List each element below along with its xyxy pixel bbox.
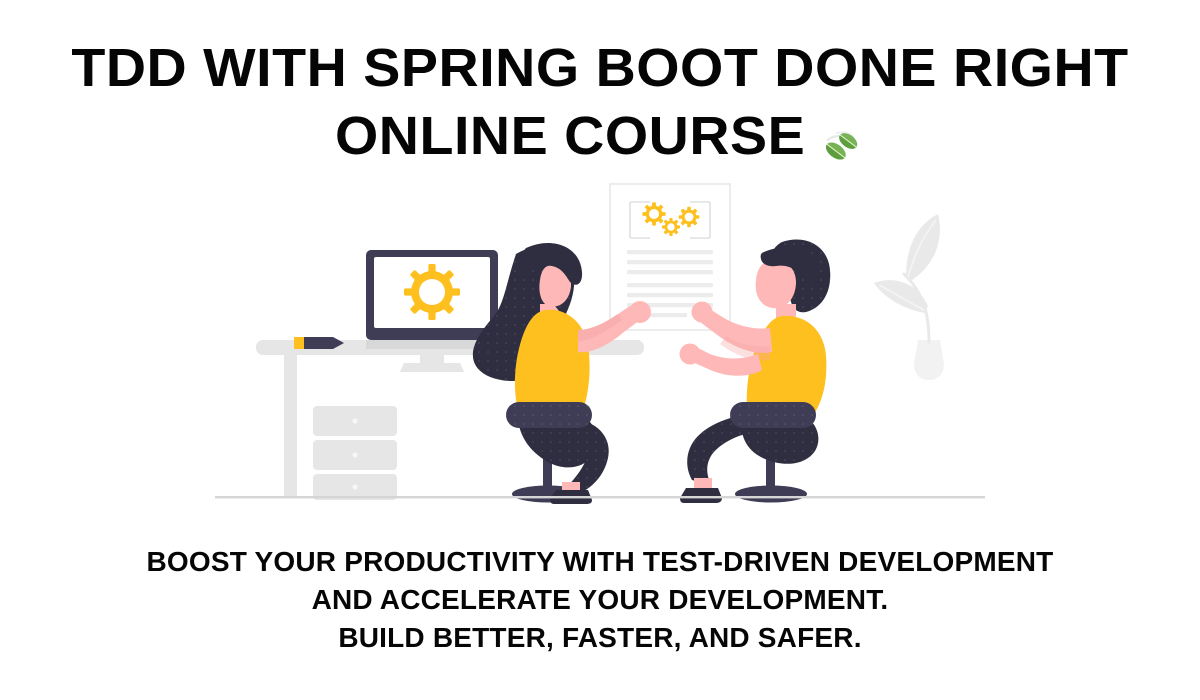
potted-plant-graphic: [874, 214, 944, 380]
subtitle-line-1: Boost your productivity with test-driven…: [0, 543, 1200, 581]
title-line-1: TDD with Spring Boot Done Right: [0, 34, 1200, 102]
stool-right-seat: [730, 402, 816, 428]
gear-icon: [404, 264, 460, 320]
poster-canvas: TDD with Spring Boot Done Right Online C…: [0, 0, 1200, 700]
ground-line: [215, 496, 985, 498]
page-title: TDD with Spring Boot Done Right Online C…: [0, 34, 1200, 170]
title-line-2-row: Online Course: [0, 102, 1200, 170]
title-line-2: Online Course: [335, 102, 805, 170]
stool-left-seat: [506, 402, 592, 428]
leaf-fluttering-in-wind-icon: [820, 116, 865, 160]
subtitle: Boost your productivity with test-driven…: [0, 543, 1200, 657]
subtitle-line-3: Build better, faster, and safer.: [0, 619, 1200, 657]
hero-illustration: [0, 170, 1200, 510]
subtitle-line-2: and accelerate your development.: [0, 581, 1200, 619]
